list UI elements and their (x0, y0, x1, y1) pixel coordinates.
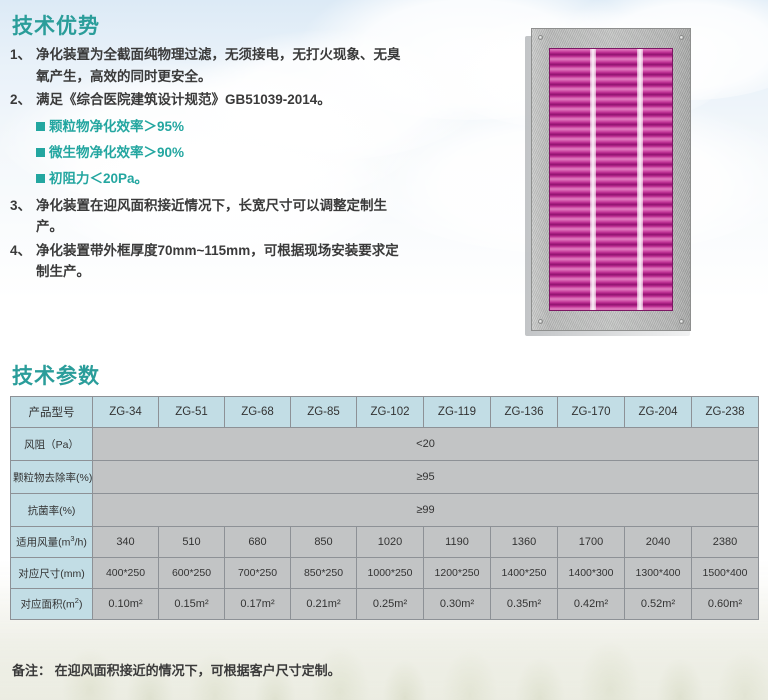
square-bullet-icon (36, 122, 45, 131)
table-row-area: 对应面积(m2) 0.10m² 0.15m² 0.17m² 0.21m² 0.2… (11, 589, 759, 620)
sub-bullet-label-2: 微生物净化效率＞90% (49, 141, 184, 165)
table-header-model-9: ZG-204 (625, 397, 692, 428)
table-cell: 0.60m² (692, 589, 759, 620)
table-cell: 0.17m² (225, 589, 291, 620)
table-cell: 2380 (692, 527, 759, 558)
table-cell: 340 (93, 527, 159, 558)
section-heading-parameters: 技术参数 (12, 360, 100, 390)
table-cell: 700*250 (225, 558, 291, 589)
table-cell: 600*250 (159, 558, 225, 589)
filter-support-strip (637, 49, 643, 310)
filter-pleated-media (549, 48, 673, 311)
footer-note: 备注： 在迎风面积接近的情况下，可根据客户尺寸定制。 (12, 660, 341, 679)
table-cell: 0.42m² (558, 589, 625, 620)
table-cell: 2040 (625, 527, 692, 558)
table-cell: 1300*400 (625, 558, 692, 589)
table-cell: 850*250 (291, 558, 357, 589)
table-cell: 1400*250 (491, 558, 558, 589)
screw-icon (538, 319, 543, 324)
sub-bullet-label-1: 颗粒物净化效率＞95% (49, 115, 184, 139)
table-cell: 1190 (424, 527, 491, 558)
table-row-merged-value: ≥95 (93, 461, 759, 494)
table-row-particle-removal: 颗粒物去除率(%) ≥95 (11, 461, 759, 494)
table-cell: 1020 (357, 527, 424, 558)
advantage-number-1: 1、 (10, 44, 36, 66)
table-header-row: 产品型号 ZG-34 ZG-51 ZG-68 ZG-85 ZG-102 ZG-1… (11, 397, 759, 428)
table-row-label: 对应尺寸(mm) (11, 558, 93, 589)
table-cell: 1200*250 (424, 558, 491, 589)
table-cell: 0.35m² (491, 589, 558, 620)
sub-bullet-label-3: 初阻力＜20Pa。 (49, 167, 148, 191)
advantage-text-4: 净化装置带外框厚度70mm~115mm，可根据现场安装要求定制生产。 (36, 240, 410, 283)
table-row-label-tail: /h) (75, 537, 87, 549)
table-header-label: 产品型号 (11, 397, 93, 428)
table-header-model-7: ZG-136 (491, 397, 558, 428)
table-row-label: 适用风量(m3/h) (11, 527, 93, 558)
spec-table: 产品型号 ZG-34 ZG-51 ZG-68 ZG-85 ZG-102 ZG-1… (10, 396, 759, 620)
table-row-label: 颗粒物去除率(%) (11, 461, 93, 494)
screw-icon (538, 35, 543, 40)
advantage-item-3: 3、 净化装置在迎风面积接近情况下，长宽尺寸可以调整定制生产。 (10, 195, 410, 238)
table-row-label-tail: ) (79, 599, 83, 611)
sub-bullet-item-3: 初阻力＜20Pa。 (36, 167, 410, 191)
table-cell: 0.25m² (357, 589, 424, 620)
square-bullet-icon (36, 174, 45, 183)
table-header-model-3: ZG-68 (225, 397, 291, 428)
table-header-model-8: ZG-170 (558, 397, 625, 428)
table-cell: 1700 (558, 527, 625, 558)
screw-icon (679, 35, 684, 40)
advantage-number-4: 4、 (10, 240, 36, 262)
table-row-dimensions: 对应尺寸(mm) 400*250 600*250 700*250 850*250… (11, 558, 759, 589)
table-header-model-2: ZG-51 (159, 397, 225, 428)
table-cell: 0.15m² (159, 589, 225, 620)
page-content: 技术优势 1、 净化装置为全截面纯物理过滤，无须接电，无打火现象、无臭氧产生，高… (0, 0, 768, 700)
table-row-airflow-volume: 适用风量(m3/h) 340 510 680 850 1020 1190 136… (11, 527, 759, 558)
table-header-model-1: ZG-34 (93, 397, 159, 428)
filter-support-strip (590, 49, 596, 310)
table-cell: 510 (159, 527, 225, 558)
product-image-air-filter (531, 28, 696, 333)
table-cell: 0.10m² (93, 589, 159, 620)
table-cell: 0.21m² (291, 589, 357, 620)
table-row-label: 抗菌率(%) (11, 494, 93, 527)
advantage-text-1: 净化装置为全截面纯物理过滤，无须接电，无打火现象、无臭氧产生，高效的同时更安全。 (36, 44, 410, 87)
table-cell: 1400*300 (558, 558, 625, 589)
advantages-list: 1、 净化装置为全截面纯物理过滤，无须接电，无打火现象、无臭氧产生，高效的同时更… (10, 44, 410, 285)
table-row-label-main: 对应面积(m (21, 599, 75, 611)
table-row-merged-value: <20 (93, 428, 759, 461)
square-bullet-icon (36, 148, 45, 157)
advantage-text-2: 满足《综合医院建筑设计规范》GB51039-2014。 (36, 89, 410, 111)
table-row-label-main: 适用风量(m (16, 537, 70, 549)
table-row-label: 风阻（Pa） (11, 428, 93, 461)
table-row-merged-value: ≥99 (93, 494, 759, 527)
sub-bullet-item-1: 颗粒物净化效率＞95% (36, 115, 410, 139)
advantage-number-2: 2、 (10, 89, 36, 111)
table-cell: 850 (291, 527, 357, 558)
section-heading-advantages: 技术优势 (12, 10, 100, 40)
advantage-item-1: 1、 净化装置为全截面纯物理过滤，无须接电，无打火现象、无臭氧产生，高效的同时更… (10, 44, 410, 87)
table-header-model-4: ZG-85 (291, 397, 357, 428)
filter-frame (531, 28, 691, 331)
advantage-sub-bullet-list: 颗粒物净化效率＞95% 微生物净化效率＞90% 初阻力＜20Pa。 (36, 115, 410, 191)
spec-table-container: 产品型号 ZG-34 ZG-51 ZG-68 ZG-85 ZG-102 ZG-1… (10, 396, 758, 620)
table-row-antibacterial-rate: 抗菌率(%) ≥99 (11, 494, 759, 527)
table-header-model-6: ZG-119 (424, 397, 491, 428)
advantage-item-2: 2、 满足《综合医院建筑设计规范》GB51039-2014。 (10, 89, 410, 111)
advantage-item-4: 4、 净化装置带外框厚度70mm~115mm，可根据现场安装要求定制生产。 (10, 240, 410, 283)
table-row-label-main: 对应尺寸(mm) (18, 568, 85, 580)
table-cell: 1500*400 (692, 558, 759, 589)
table-cell: 680 (225, 527, 291, 558)
table-row-label: 对应面积(m2) (11, 589, 93, 620)
advantage-text-3: 净化装置在迎风面积接近情况下，长宽尺寸可以调整定制生产。 (36, 195, 410, 238)
table-cell: 400*250 (93, 558, 159, 589)
table-row-airflow-resistance: 风阻（Pa） <20 (11, 428, 759, 461)
table-cell: 0.30m² (424, 589, 491, 620)
table-header-model-10: ZG-238 (692, 397, 759, 428)
screw-icon (679, 319, 684, 324)
sub-bullet-item-2: 微生物净化效率＞90% (36, 141, 410, 165)
table-cell: 1000*250 (357, 558, 424, 589)
table-cell: 0.52m² (625, 589, 692, 620)
advantage-number-3: 3、 (10, 195, 36, 217)
table-header-model-5: ZG-102 (357, 397, 424, 428)
table-cell: 1360 (491, 527, 558, 558)
